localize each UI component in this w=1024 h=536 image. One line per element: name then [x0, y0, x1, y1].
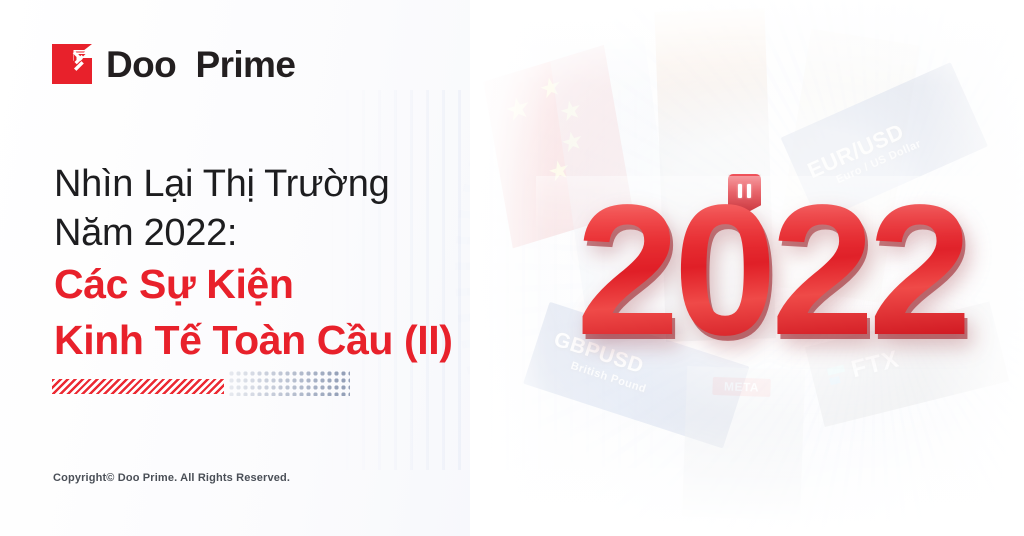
dot-grid	[228, 370, 350, 396]
headline-line-1: Nhìn Lại Thị Trường	[54, 160, 524, 209]
brand-name-first: Doo	[106, 44, 176, 85]
collage-panel-meta: META	[682, 366, 805, 520]
doo-prime-flag-mark-icon	[52, 44, 92, 84]
copyright-text: Copyright© Doo Prime. All Rights Reserve…	[53, 472, 290, 484]
hatched-bar	[52, 379, 224, 394]
year-2022: 2022	[536, 176, 1006, 366]
brand-wordmark: Doo Prime	[106, 46, 295, 83]
headline-line-3: Các Sự Kiện	[54, 257, 524, 313]
meta-sign-label: META	[712, 377, 771, 397]
brand-logo[interactable]: Doo Prime	[52, 44, 295, 84]
headline-line-2: Năm 2022:	[54, 209, 524, 258]
decorative-rule	[52, 370, 352, 400]
promo-banner: ★ ★ ★ ★ ★ EUR/USD Euro / US Dollar GBPUS…	[0, 0, 1024, 536]
headline-line-4: Kinh Tế Toàn Cầu (II)	[54, 313, 524, 369]
headline-block: Nhìn Lại Thị Trường Năm 2022: Các Sự Kiệ…	[54, 160, 524, 369]
brand-name-second: Prime	[196, 44, 296, 85]
